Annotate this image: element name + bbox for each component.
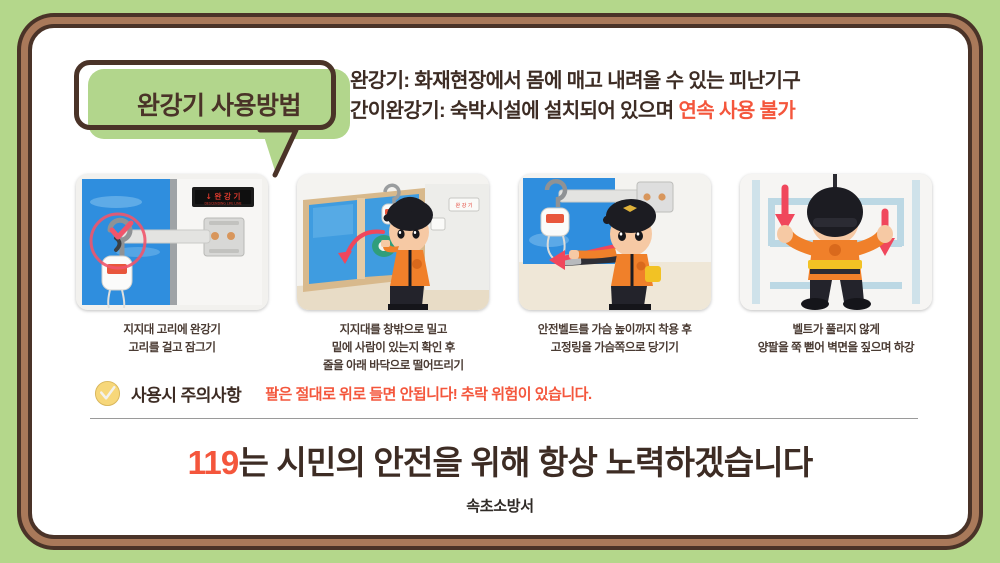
- caution-message: 팔은 절대로 위로 들면 안됩니다! 추락 위험이 있습니다.: [265, 383, 591, 404]
- title-speech-bubble: 완강기 사용방법: [74, 60, 356, 138]
- step-1-caption-line-2: 고리를 걸고 잠그기: [76, 339, 268, 357]
- descend-wall-icon: [740, 174, 932, 310]
- header-line-1: 완강기: 화재현장에서 몸에 매고 내려올 수 있는 피난기구: [350, 66, 950, 96]
- step-4-image: [740, 174, 932, 310]
- step-4-caption-line-2: 양팔을 쭉 뻗어 벽면을 짚으며 하강: [740, 339, 932, 357]
- step-2-caption-line-1: 지지대를 창밖으로 밀고: [297, 321, 489, 339]
- step-2-caption-line-2: 밑에 사람이 있는지 확인 후: [297, 339, 489, 357]
- steps-row: ↓ 완 강 기 DESCENDING LIFE LINE: [76, 174, 932, 375]
- header-line-2: 간이완강기: 숙박시설에 설치되어 있으며 연속 사용 불가: [350, 96, 950, 126]
- step-3: 안전벨트를 가슴 높이까지 착용 후 고정링을 가슴쪽으로 당기기: [519, 174, 711, 375]
- step-3-image: [519, 174, 711, 310]
- footer-organization: 속초소방서: [32, 495, 968, 516]
- section-divider: [90, 418, 918, 419]
- bubble-title-text: 완강기 사용방법: [88, 69, 350, 139]
- step-1-image: ↓ 완 강 기 DESCENDING LIFE LINE: [76, 174, 268, 310]
- slogan: 119는 시민의 안전을 위해 항상 노력하겠습니다: [32, 436, 968, 484]
- step-2-image: 완 강 기: [297, 174, 489, 310]
- header-description: 완강기: 화재현장에서 몸에 매고 내려올 수 있는 피난기구 간이완강기: 숙…: [350, 66, 950, 127]
- step-3-caption-line-2: 고정링을 가슴쪽으로 당기기: [519, 339, 711, 357]
- caution-row: 사용시 주의사항 팔은 절대로 위로 들면 안됩니다! 추락 위험이 있습니다.: [94, 380, 592, 407]
- step-1-caption: 지지대 고리에 완강기 고리를 걸고 잠그기: [76, 321, 268, 357]
- step-4-caption-line-1: 벨트가 풀리지 않게: [740, 321, 932, 339]
- step-2-caption-line-3: 줄을 아래 바닥으로 떨어뜨리기: [297, 357, 489, 375]
- slogan-rest: 는 시민의 안전을 위해 항상 노력하겠습니다: [238, 444, 812, 481]
- fasten-safety-belt-icon: [519, 174, 711, 310]
- svg-text:DESCENDING LIFE LINE: DESCENDING LIFE LINE: [204, 202, 241, 206]
- poster-root: { "theme": { "bg_green": "#b4d78b", "fra…: [0, 0, 1000, 563]
- svg-text:↓ 완 강 기: ↓ 완 강 기: [206, 191, 241, 201]
- step-4-caption: 벨트가 풀리지 않게 양팔을 쭉 뻗어 벽면을 짚으며 하강: [740, 321, 932, 357]
- throw-rope-out-window-icon: 완 강 기: [297, 174, 489, 310]
- svg-text:완 강 기: 완 강 기: [456, 202, 473, 209]
- poster-card: 완강기 사용방법 완강기: 화재현장에서 몸에 매고 내려올 수 있는 피난기구…: [28, 24, 972, 539]
- header-line-2-prefix: 간이완강기: 숙박시설에 설치되어 있으며: [350, 100, 679, 122]
- wall-bracket-hook-icon: ↓ 완 강 기 DESCENDING LIFE LINE: [76, 174, 268, 310]
- step-2-caption: 지지대를 창밖으로 밀고 밑에 사람이 있는지 확인 후 줄을 아래 바닥으로 …: [297, 321, 489, 375]
- slogan-number: 119: [188, 444, 239, 481]
- step-3-caption-line-1: 안전벨트를 가슴 높이까지 착용 후: [519, 321, 711, 339]
- step-1-caption-line-1: 지지대 고리에 완강기: [76, 321, 268, 339]
- step-4: 벨트가 풀리지 않게 양팔을 쭉 뻗어 벽면을 짚으며 하강: [740, 174, 932, 375]
- check-circle-icon: [94, 380, 121, 407]
- step-3-caption: 안전벨트를 가슴 높이까지 착용 후 고정링을 가슴쪽으로 당기기: [519, 321, 711, 357]
- header-line-2-highlight: 연속 사용 불가: [679, 100, 796, 122]
- step-2: 완 강 기: [297, 174, 489, 375]
- step-1: ↓ 완 강 기 DESCENDING LIFE LINE: [76, 174, 268, 375]
- poster-inner: 완강기 사용방법 완강기: 화재현장에서 몸에 매고 내려올 수 있는 피난기구…: [32, 28, 968, 535]
- caution-title: 사용시 주의사항: [131, 381, 241, 406]
